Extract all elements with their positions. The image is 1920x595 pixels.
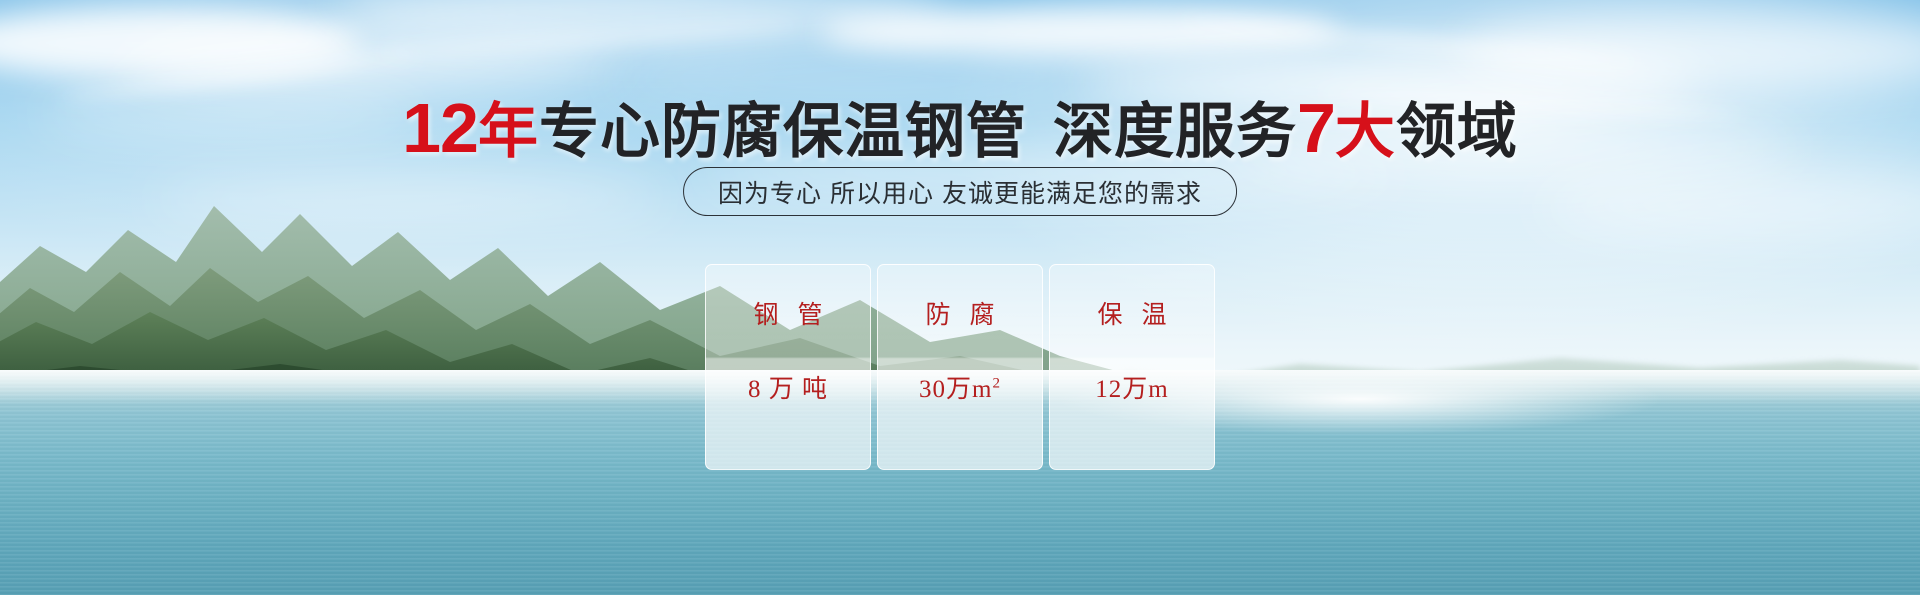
subtitle-text: 因为专心 所以用心 友诚更能满足您的需求 xyxy=(718,174,1202,210)
stat-card-group: 钢 管 8 万 吨 防 腐 30万m2 保 温 12万m xyxy=(705,264,1215,470)
hero-banner: 12年专心防腐保温钢管深度服务7大领域 因为专心 所以用心 友诚更能满足您的需求… xyxy=(0,0,1920,595)
stat-card-value-text: 8 万 吨 xyxy=(748,376,828,403)
headline-fields-unit: 大 xyxy=(1335,98,1396,165)
stat-card-value-text: 30万m xyxy=(919,376,992,403)
headline-service-text: 深度服务 xyxy=(1053,98,1297,165)
headline-years-number: 12 xyxy=(402,89,478,167)
stat-card-value: 8 万 吨 xyxy=(748,369,828,405)
stat-card[interactable]: 防 腐 30万m2 xyxy=(877,264,1043,470)
headline-fields-text: 领域 xyxy=(1396,98,1518,165)
stat-card-title: 保 温 xyxy=(1092,295,1173,331)
stat-card[interactable]: 保 温 12万m xyxy=(1049,264,1215,470)
stat-card-value: 30万m2 xyxy=(919,369,1001,405)
cloud-shape xyxy=(150,180,670,220)
subtitle-pill: 因为专心 所以用心 友诚更能满足您的需求 xyxy=(683,167,1237,216)
stat-card-value: 12万m xyxy=(1095,369,1168,405)
stat-card-value-superscript: 2 xyxy=(992,376,1001,392)
stat-card-title: 钢 管 xyxy=(748,295,829,331)
headline-main-text: 专心防腐保温钢管 xyxy=(539,98,1027,165)
stat-card-title: 防 腐 xyxy=(920,295,1001,331)
page-title: 12年专心防腐保温钢管深度服务7大领域 xyxy=(0,83,1920,170)
stat-card-value-text: 12万m xyxy=(1095,376,1168,403)
stat-card[interactable]: 钢 管 8 万 吨 xyxy=(705,264,871,470)
headline-fields-number: 7 xyxy=(1297,89,1335,167)
headline-years-unit: 年 xyxy=(478,98,539,165)
